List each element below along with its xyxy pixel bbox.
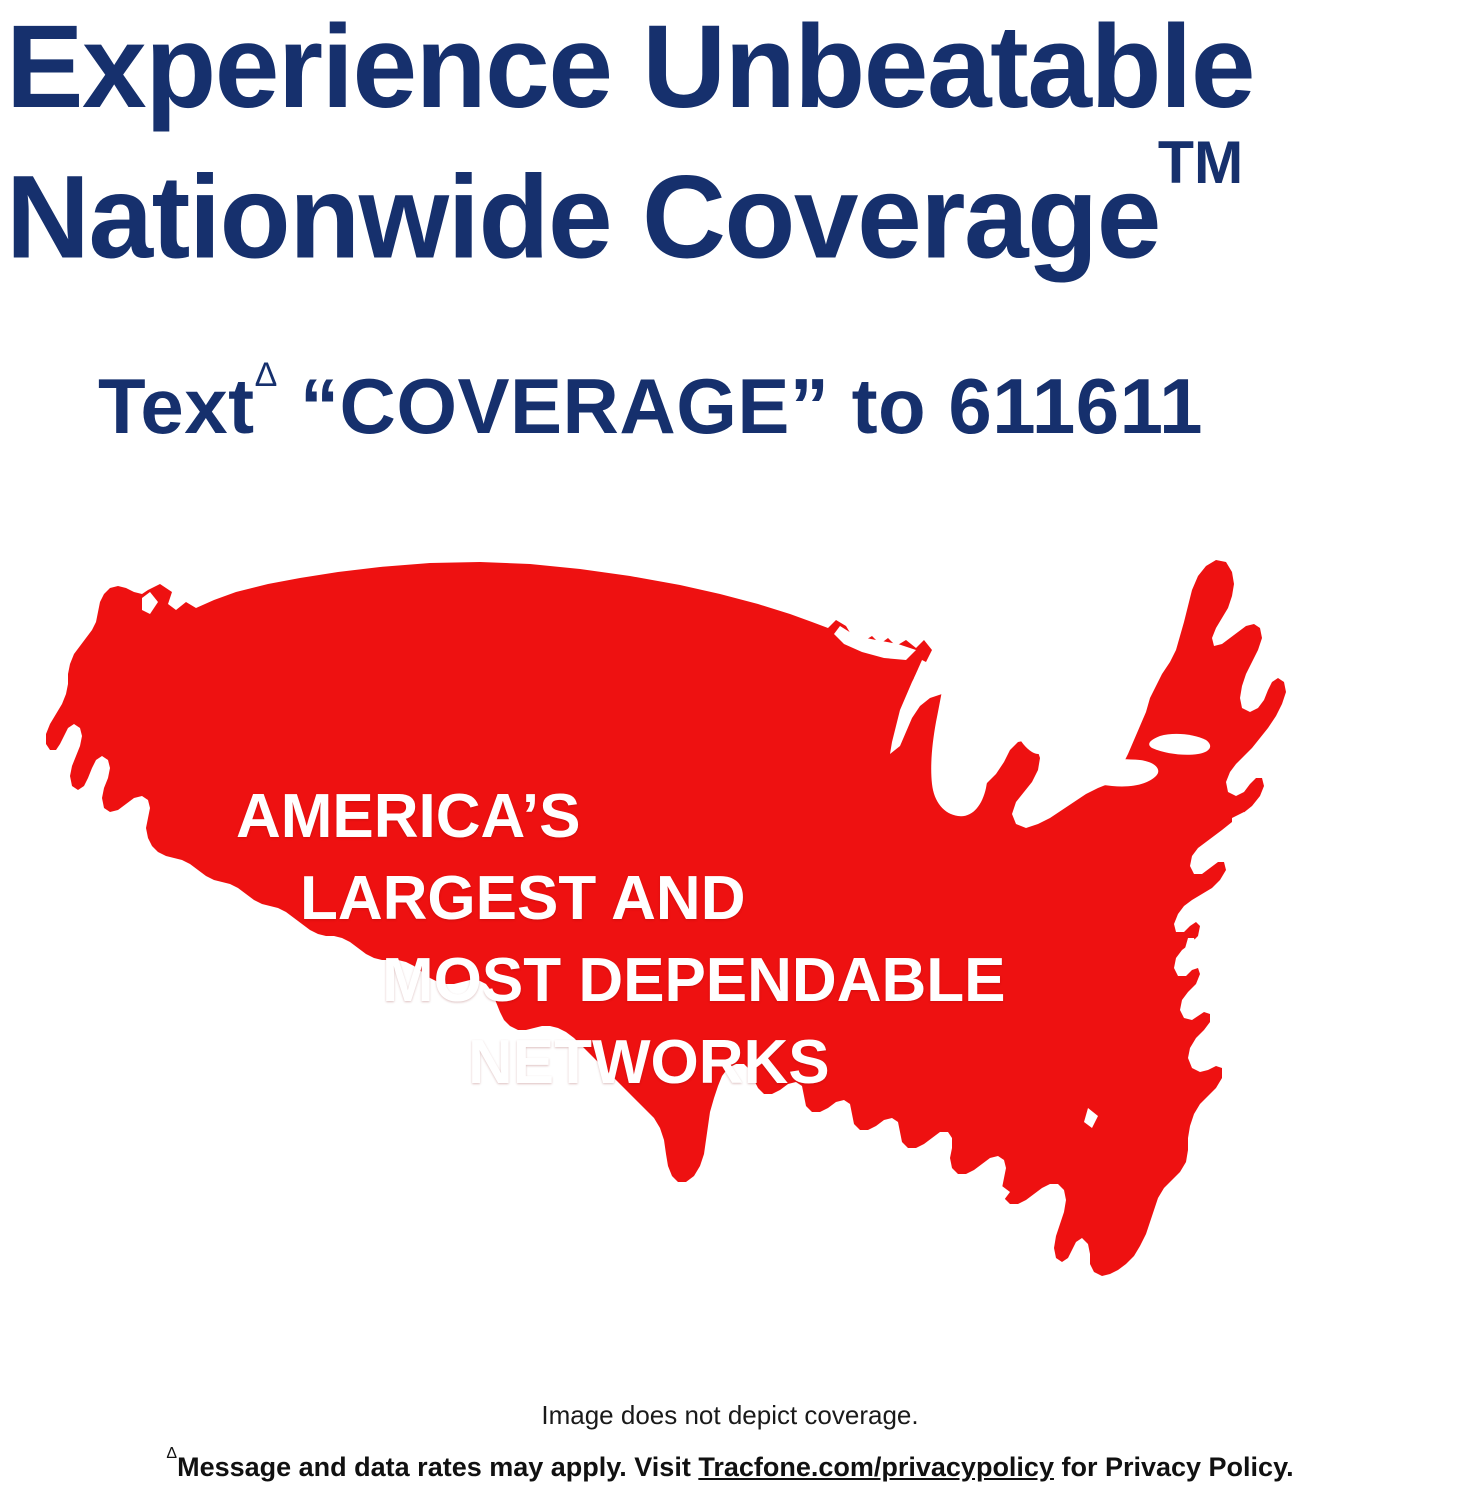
cta-shortcode: 611611	[948, 362, 1203, 450]
usa-map-icon	[0, 540, 1460, 1350]
cta-prefix: Text	[98, 362, 255, 450]
usa-coverage-map: AMERICA’S LARGEST AND MOST DEPENDABLE NE…	[0, 540, 1460, 1350]
cta-connector: to	[852, 362, 927, 450]
footnote-marker-icon: Δ	[255, 356, 278, 394]
legal-disclaimer: ΔMessage and data rates may apply. Visit…	[0, 1452, 1460, 1483]
privacy-policy-link[interactable]: Tracfone.com/privacypolicy	[698, 1452, 1054, 1482]
page-title: Experience Unbeatable Nationwide Coverag…	[6, 2, 1434, 282]
headline-line-2: Nationwide Coverage	[6, 151, 1160, 283]
headline-line-1: Experience Unbeatable	[6, 2, 1434, 132]
trademark-symbol: TM	[1158, 129, 1243, 196]
coverage-ad-banner: Experience Unbeatable Nationwide Coverag…	[0, 0, 1460, 1500]
sms-call-to-action: TextΔ “COVERAGE” to 611611	[98, 352, 1203, 449]
map-disclaimer: Image does not depict coverage.	[0, 1400, 1460, 1431]
legal-text-before: Message and data rates may apply. Visit	[177, 1452, 698, 1482]
legal-text-after: for Privacy Policy.	[1054, 1452, 1294, 1482]
legal-footnote-marker-icon: Δ	[166, 1445, 177, 1462]
headline-line-2-wrap: Nationwide CoverageTM	[6, 132, 1434, 282]
cta-keyword: “COVERAGE”	[300, 362, 829, 450]
